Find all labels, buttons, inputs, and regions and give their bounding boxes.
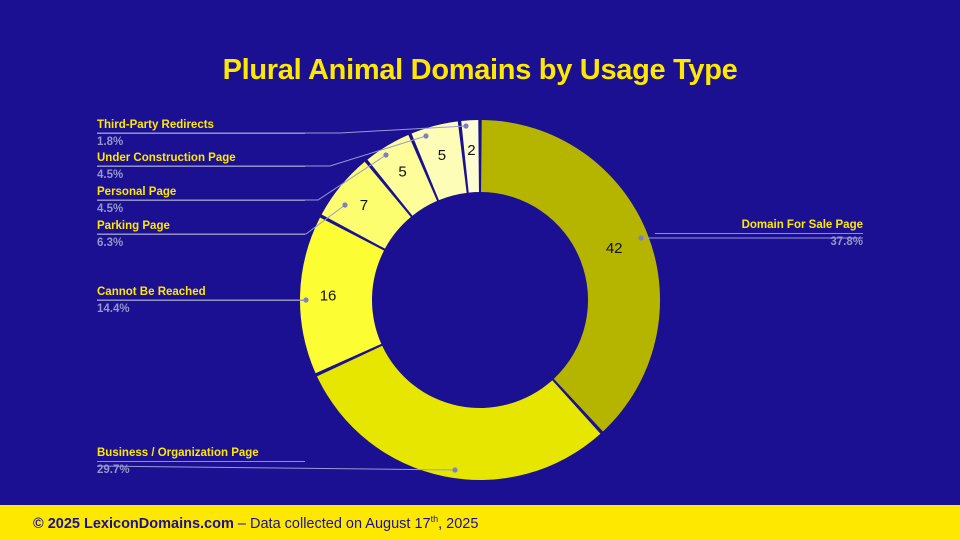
callout-percent: 4.5% [97,202,305,216]
footer-separator: – [234,515,250,531]
callout-percent: 4.5% [97,168,305,182]
footer-note-ordinal: th [431,514,439,524]
slice-value-label: 2 [467,142,475,159]
callout-cannot-be-reached[interactable]: Cannot Be Reached 14.4% [97,285,305,316]
callout-percent: 1.8% [97,135,305,149]
callout-label: Cannot Be Reached [97,285,305,299]
footer-bar: © 2025 LexiconDomains.com – Data collect… [0,505,960,540]
callout-personal-page[interactable]: Personal Page 4.5% [97,185,305,216]
callout-under-construction-page[interactable]: Under Construction Page 4.5% [97,151,305,182]
callout-label: Parking Page [97,219,305,233]
footer-copyright: © 2025 LexiconDomains.com [33,515,234,531]
donut-slice[interactable] [317,346,600,480]
page-title: Plural Animal Domains by Usage Type [0,54,960,87]
callout-label: Under Construction Page [97,151,305,165]
footer-text: © 2025 LexiconDomains.com – Data collect… [33,514,478,532]
donut-slice[interactable] [481,120,660,431]
slide-canvas: Plural Animal Domains by Usage Type 4233… [0,0,960,540]
callout-domain-for-sale-page[interactable]: Domain For Sale Page 37.8% [655,218,863,249]
callout-rule [97,200,305,201]
callout-rule [655,233,863,234]
callout-label: Business / Organization Page [97,446,305,460]
callout-rule [97,133,305,134]
callout-parking-page[interactable]: Parking Page 6.3% [97,219,305,250]
callout-business-organization-page[interactable]: Business / Organization Page 29.7% [97,446,305,477]
callout-third-party-redirects[interactable]: Third-Party Redirects 1.8% [97,118,305,149]
callout-label: Domain For Sale Page [655,218,863,232]
callout-rule [97,461,305,462]
donut-slices [300,120,660,480]
callout-percent: 6.3% [97,236,305,250]
callout-percent: 37.8% [655,235,863,249]
slice-value-label: 16 [320,288,337,305]
callout-percent: 14.4% [97,302,305,316]
slice-value-label: 5 [438,147,446,164]
callout-rule [97,234,305,235]
callout-label: Personal Page [97,185,305,199]
slice-value-label: 42 [606,240,623,257]
donut-svg: 4233167552 [300,120,660,480]
footer-note-pre: Data collected on August 17 [250,515,431,531]
callout-percent: 29.7% [97,463,305,477]
donut-chart: 4233167552 [300,120,660,480]
callout-rule [97,300,305,301]
callout-rule [97,166,305,167]
slice-value-label: 7 [360,197,368,214]
footer-note-post: , 2025 [438,515,478,531]
slice-value-label: 5 [398,164,406,181]
callout-label: Third-Party Redirects [97,118,305,132]
